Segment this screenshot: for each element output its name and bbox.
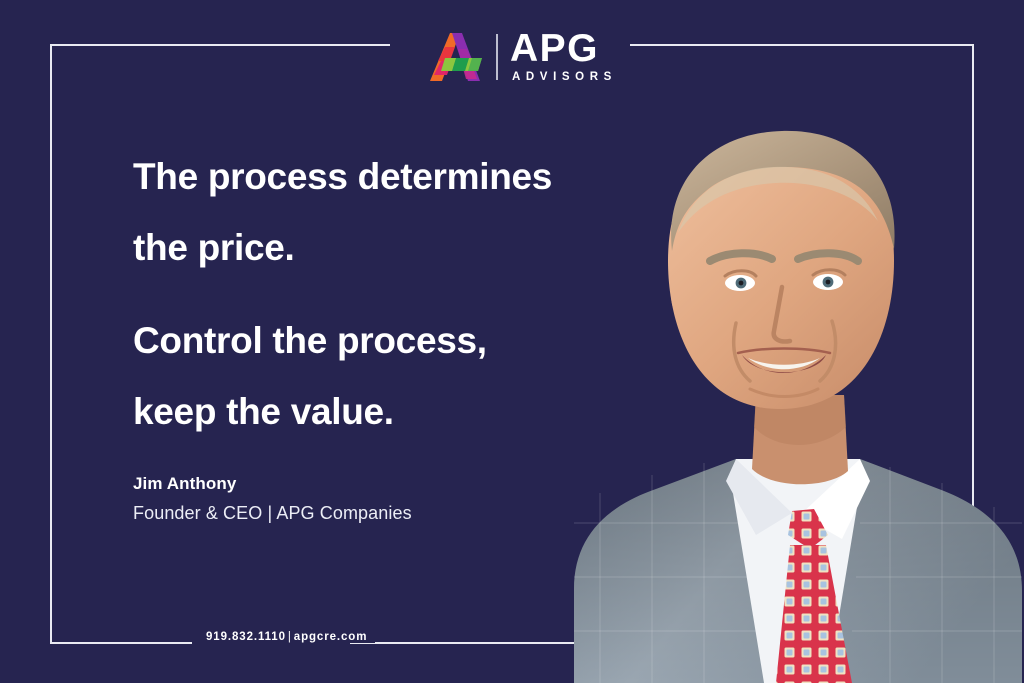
footer-website[interactable]: apgcre.com: [294, 631, 368, 643]
tie-knot: [788, 509, 828, 549]
brand-logo-lockup[interactable]: APG ADVISORS: [428, 28, 617, 86]
tie-body: [776, 545, 852, 683]
suit-jacket: [574, 459, 1022, 683]
frame-border-top-right: [630, 44, 974, 46]
neck: [752, 395, 848, 484]
hair: [671, 131, 894, 251]
logo-brand-name: APG: [510, 30, 617, 67]
logo-divider: [496, 34, 498, 80]
footer-phone[interactable]: 919.832.1110: [206, 631, 286, 643]
mouth: [742, 355, 826, 373]
ear-left: [671, 268, 705, 322]
quote-line-4: keep the value.: [133, 393, 603, 430]
quote-text-block: The process determines the price. Contro…: [133, 158, 603, 464]
eye-right: [813, 274, 843, 290]
footer-separator: |: [286, 631, 294, 643]
attribution-block: Jim Anthony Founder & CEO | APG Companie…: [133, 474, 412, 524]
frame-border-left: [50, 44, 52, 644]
frame-border-bottom-right: [350, 642, 974, 644]
logo-tagline: ADVISORS: [510, 72, 617, 84]
ear-right: [857, 266, 891, 320]
frame-border-bottom-left: [50, 642, 192, 644]
portrait-photo: [560, 83, 1024, 683]
apg-a-monogram-icon: [428, 31, 484, 83]
eyebrow-left: [710, 253, 772, 261]
eye-left: [725, 275, 755, 291]
frame-border-top-left: [50, 44, 390, 46]
suit-check-pattern: [574, 463, 1022, 683]
teeth: [748, 358, 820, 369]
quote-line-3: Control the process,: [133, 322, 603, 359]
quote-line-1: The process determines: [133, 158, 603, 195]
attribution-role: Founder & CEO | APG Companies: [133, 503, 412, 524]
quote-line-2: the price.: [133, 229, 603, 266]
eyebrow-right: [798, 253, 858, 261]
dress-shirt: [732, 459, 860, 683]
quote-paragraph-gap: [133, 300, 603, 322]
attribution-name: Jim Anthony: [133, 474, 412, 494]
nose: [774, 287, 790, 342]
face: [668, 137, 894, 409]
logo-wordmark: APG ADVISORS: [510, 30, 617, 84]
footer-contact-bar: 919.832.1110|apgcre.com: [198, 631, 375, 643]
quote-card: APG ADVISORS The process determines the …: [0, 0, 1024, 683]
frame-border-right: [972, 44, 974, 644]
